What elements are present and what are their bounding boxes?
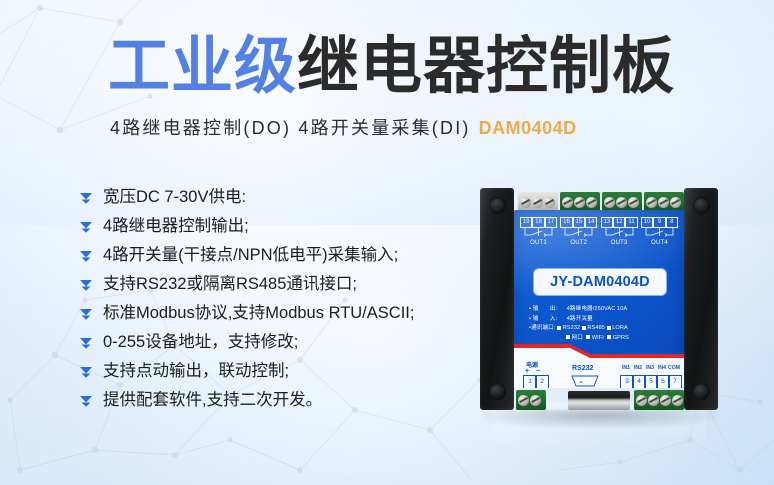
list-item: 宽压DC 7-30V供电: xyxy=(78,186,478,215)
faceplate-wave-divider xyxy=(514,340,684,358)
terminal-number: 11 xyxy=(625,217,637,228)
double-chevron-down-icon xyxy=(78,247,94,267)
feature-item-label: 0-255设备地址，支持修改; xyxy=(103,331,298,353)
list-item: 提供配套软件,支持二次开发。 xyxy=(78,389,478,418)
terminal-screw-icon xyxy=(672,395,683,406)
terminal-screw-icon xyxy=(658,197,669,208)
list-item: 4路继电器控制输出; xyxy=(78,215,478,244)
list-item: 支持点动输出，联动控制; xyxy=(78,360,478,389)
terminal-screw-icon xyxy=(648,395,659,406)
mounting-rail-right xyxy=(684,188,718,410)
power-plus-sign: + xyxy=(525,368,536,375)
terminal-screw-icon xyxy=(544,197,555,208)
list-item: 0-255设备地址，支持修改; xyxy=(78,331,478,360)
terminal-block-top-3 xyxy=(602,192,642,212)
terminal-screw-icon xyxy=(530,395,541,406)
list-item: 4路开关量(干接点/NPN低电平)采集输入; xyxy=(78,244,478,273)
feature-item-label: 4路开关量(干接点/NPN低电平)采集输入; xyxy=(103,244,398,266)
list-item: 支持RS232或隔离RS485通讯接口; xyxy=(78,273,478,302)
terminal-number: 18 xyxy=(532,217,544,228)
screw-hole-icon xyxy=(489,383,506,400)
port-option: RS232 xyxy=(563,325,581,331)
screw-hole-icon xyxy=(693,383,710,400)
terminal-number: 16 xyxy=(560,217,572,228)
terminal-number: 14 xyxy=(585,217,597,228)
db9-connector-icon xyxy=(570,374,600,387)
double-chevron-down-icon xyxy=(78,334,94,354)
feature-item-label: 支持点动输出，联动控制; xyxy=(103,360,289,382)
feature-list: 宽压DC 7-30V供电: 4路继电器控制输出; 4路开关量(干接点/NPN低电… xyxy=(78,186,478,418)
checkbox-icon xyxy=(607,335,611,339)
page-subtitle: 4路继电器控制(DO) 4路开关量采集(DI)DAM0404D xyxy=(110,114,577,140)
faceplate-bottom-labels: 电源 +− 1 2 RS232 IN1 IN2 IN3 IN4 COM 3 4 … xyxy=(514,358,684,388)
terminal-screw-icon xyxy=(574,197,585,208)
product-banner: 工业级继电器控制板 4路继电器控制(DO) 4路开关量采集(DI)DAM0404… xyxy=(0,0,774,485)
input-label: IN4 xyxy=(656,365,668,371)
feature-item-label: 宽压DC 7-30V供电: xyxy=(103,186,246,208)
input-label: IN1 xyxy=(620,365,632,371)
page-subtitle-text: 4路继电器控制(DO) 4路开关量采集(DI) xyxy=(110,118,471,138)
terminal-screw-icon xyxy=(616,197,627,208)
feature-item-label: 4路继电器控制输出; xyxy=(103,215,249,237)
output-label: OUT1 xyxy=(520,240,557,246)
output-group-2: 16 15 14 OUT2 xyxy=(560,217,597,246)
terminal-number: 17 xyxy=(545,217,557,228)
terminal-number: 9 xyxy=(653,217,665,228)
terminal-pin: 2 xyxy=(535,375,549,388)
terminal-block-bottom-left xyxy=(516,390,546,410)
terminal-number: 8 xyxy=(666,217,678,228)
output-label: OUT4 xyxy=(641,240,678,246)
terminal-screw-icon xyxy=(586,197,597,208)
power-polarity-labels: +− xyxy=(525,368,547,375)
terminal-number: 15 xyxy=(573,217,585,228)
mounting-rail-left xyxy=(480,188,514,410)
spec-port-label: 通讯端口: xyxy=(531,325,555,331)
port-option: LORA xyxy=(612,325,628,331)
feature-item-label: 提供配套软件,支持二次开发。 xyxy=(103,389,322,411)
terminal-block-top-4 xyxy=(644,192,684,212)
terminal-screw-icon xyxy=(518,395,529,406)
double-chevron-down-icon xyxy=(78,305,94,325)
feature-item-label: 支持RS232或隔离RS485通讯接口; xyxy=(103,273,357,295)
port-option: RS485 xyxy=(587,325,605,331)
page-title-highlight: 工业级 xyxy=(108,32,297,101)
input-label: IN2 xyxy=(632,365,644,371)
output-group-4: 10 9 8 OUT4 xyxy=(641,217,678,246)
input-label: COM xyxy=(668,365,680,371)
page-title-main: 继电器控制板 xyxy=(297,32,675,101)
terminal-number: 19 xyxy=(520,217,532,228)
terminal-screw-icon xyxy=(660,395,671,406)
spec-output-label: 输 出: xyxy=(533,305,567,315)
power-minus-sign: − xyxy=(536,368,547,375)
double-chevron-down-icon xyxy=(78,363,94,383)
output-label: OUT3 xyxy=(601,240,638,246)
device-model-plate: JY-DAM0404D xyxy=(533,268,667,296)
terminal-screw-icon xyxy=(646,197,657,208)
serial-port-label: RS232 xyxy=(572,365,593,372)
terminal-screw-icon xyxy=(604,197,615,208)
terminal-screw-icon xyxy=(532,197,543,208)
terminal-screw-icon xyxy=(628,197,639,208)
terminal-screw-icon xyxy=(636,395,647,406)
terminal-screw-icon xyxy=(520,197,531,208)
output-terminal-diagram: 19 18 17 OUT1 16 15 14 OUT2 xyxy=(520,217,678,246)
terminal-number: 13 xyxy=(601,217,613,228)
checkbox-icon xyxy=(557,326,561,330)
feature-item-label: 标准Modbus协议,支持Modbus RTU/ASCII; xyxy=(103,302,414,324)
output-group-1: 19 18 17 OUT1 xyxy=(520,217,557,246)
terminal-number: 10 xyxy=(641,217,653,228)
spec-input-value: 4路开关量 xyxy=(567,316,593,322)
input-label: IN3 xyxy=(644,365,656,371)
device-shadow xyxy=(482,410,716,428)
double-chevron-down-icon xyxy=(78,276,94,296)
device-faceplate: 19 18 17 OUT1 16 15 14 OUT2 xyxy=(514,210,684,388)
db9-serial-connector xyxy=(568,391,630,410)
spec-row-input: • 输 入:4路开关量 xyxy=(529,315,675,325)
product-device-image: 19 18 17 OUT1 16 15 14 OUT2 xyxy=(474,188,724,428)
spec-input-label: 输 入: xyxy=(533,315,567,325)
terminal-block-top-1 xyxy=(518,192,558,212)
list-item: 标准Modbus协议,支持Modbus RTU/ASCII; xyxy=(78,302,478,331)
terminal-screw-icon xyxy=(670,197,681,208)
screw-hole-icon xyxy=(489,197,506,214)
device-spec-block: • 输 出:4路继电器/250VAC 10A • 输 入:4路开关量 •通讯端口… xyxy=(529,305,675,343)
device-bottom-connectors xyxy=(514,388,684,410)
checkbox-icon xyxy=(607,326,611,330)
checkbox-icon xyxy=(566,335,570,339)
checkbox-icon xyxy=(586,335,590,339)
double-chevron-down-icon xyxy=(78,392,94,412)
terminal-screw-icon xyxy=(562,197,573,208)
output-group-3: 13 12 11 OUT3 xyxy=(601,217,638,246)
terminal-number: 12 xyxy=(613,217,625,228)
page-title: 工业级继电器控制板 xyxy=(108,36,675,98)
output-label: OUT2 xyxy=(560,240,597,246)
terminal-pin: 7 xyxy=(668,375,682,388)
product-model-name: DAM0404D xyxy=(479,118,577,138)
checkbox-icon xyxy=(582,326,586,330)
terminal-block-bottom-right xyxy=(634,390,684,410)
spec-row-ports-1: •通讯端口: RS232 RS485 LORA xyxy=(529,324,675,334)
terminal-block-top-2 xyxy=(560,192,600,212)
spec-output-value: 4路继电器/250VAC 10A xyxy=(567,306,628,312)
screw-hole-icon xyxy=(693,197,710,214)
spec-row-output: • 输 出:4路继电器/250VAC 10A xyxy=(529,305,675,315)
double-chevron-down-icon xyxy=(78,189,94,209)
double-chevron-down-icon xyxy=(78,218,94,238)
